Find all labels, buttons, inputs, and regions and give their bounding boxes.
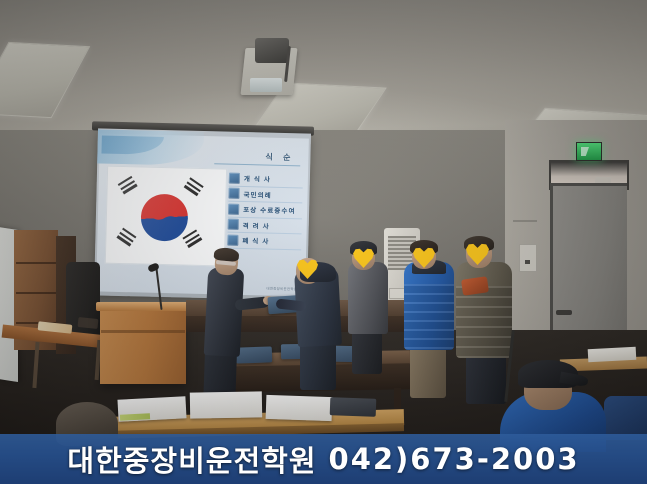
trigram-gon — [182, 229, 202, 248]
wall-trim — [513, 220, 537, 222]
agenda-item: 개 식 사 — [229, 171, 303, 188]
paper-stack — [190, 391, 262, 418]
presentation-slide: 식 순 개 식 사 국민의례 포상 — [96, 133, 309, 296]
podium — [100, 308, 186, 384]
certificate-folder — [236, 346, 273, 363]
trigram-gam — [184, 177, 204, 196]
door-handle[interactable] — [556, 310, 572, 315]
banner-overlay: 대한중장비운전학원 042)673-2003 — [0, 434, 647, 484]
recipient-legs — [300, 342, 336, 390]
presenter-torso — [204, 267, 245, 357]
paper-stack — [266, 395, 333, 421]
slide-agenda-list: 개 식 사 국민의례 포상 수료증수여 격 려 사 폐 식 사 — [227, 171, 303, 250]
podium-top — [96, 302, 190, 311]
agenda-bullet-icon — [228, 219, 239, 230]
school-name-text: 대한중장비운전학원 — [67, 438, 316, 480]
agenda-item-label: 개 식 사 — [244, 173, 271, 184]
agenda-item-label: 국민의례 — [243, 189, 272, 200]
phone-number-text: 042)673-2003 — [329, 442, 580, 476]
cabinet-shelf — [16, 262, 56, 264]
agenda-item-label: 폐 식 사 — [242, 235, 269, 246]
trigram-ri — [116, 228, 136, 247]
agenda-bullet-icon — [227, 234, 238, 245]
student-3-legs — [410, 346, 446, 398]
korean-flag-icon — [105, 166, 227, 267]
student-4-legs — [466, 354, 506, 404]
slide-title: 식 순 — [265, 152, 294, 164]
cabinet-shelf — [16, 292, 56, 294]
papers-on-right-table — [588, 347, 637, 362]
student-2-torso — [348, 262, 388, 334]
agenda-item-label: 포상 수료증수여 — [243, 204, 296, 215]
agenda-item: 격 려 사 — [228, 217, 302, 234]
agenda-item-label: 격 려 사 — [243, 220, 270, 231]
agenda-bullet-icon — [229, 172, 240, 183]
agenda-bullet-icon — [228, 203, 239, 214]
dark-folder — [330, 397, 377, 417]
podium-trim — [101, 330, 185, 333]
student-3-jacket-texture — [404, 284, 454, 350]
slide-title-rule — [214, 163, 300, 166]
photo-canvas: 식 순 개 식 사 국민의례 포상 — [0, 0, 647, 484]
student-2-legs — [352, 330, 382, 374]
wall-switch-plate[interactable] — [519, 244, 537, 272]
projector-lens — [250, 78, 282, 92]
agenda-item: 폐 식 사 — [227, 233, 301, 250]
projection-screen: 식 순 개 식 사 국민의례 포상 — [94, 128, 311, 300]
agenda-item: 국민의례 — [228, 186, 302, 203]
projector-icon — [255, 38, 289, 63]
slide-footer-note: 대한중장비운전학원 — [266, 286, 297, 292]
desk-object — [78, 317, 99, 329]
trigram-geon — [118, 176, 138, 195]
student-4-jacket-texture — [456, 286, 512, 358]
agenda-bullet-icon — [228, 188, 239, 199]
exit-sign-icon — [576, 142, 602, 161]
agenda-item: 포상 수료증수여 — [228, 202, 302, 219]
